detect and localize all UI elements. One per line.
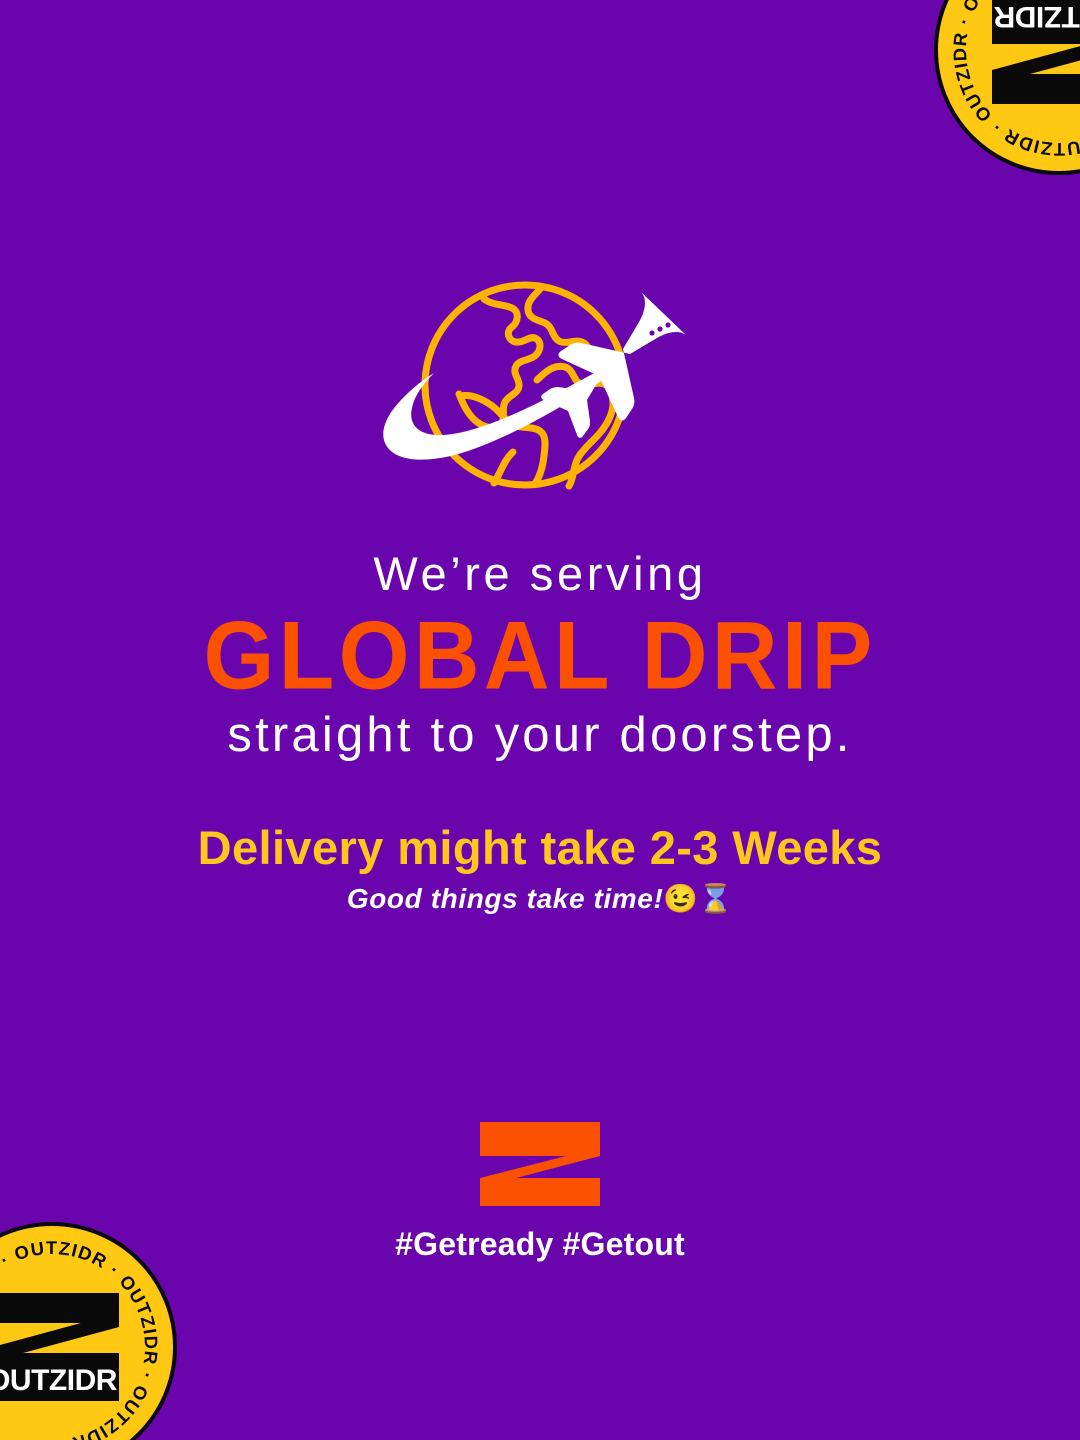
subhead-text: straight to your doorstep. — [0, 709, 1080, 763]
subnote-emoji: 😉⌛ — [663, 883, 733, 914]
outzidr-badge-top-right: OUTZIDR · OUTZIDR · OUTZIDR · OUTZIDR · … — [934, 0, 1080, 175]
eyebrow-text: We’re serving — [0, 548, 1080, 601]
hashtags-text: #Getready #Getout — [0, 1226, 1080, 1263]
headline-block: We’re serving GLOBAL DRIP straight to yo… — [0, 548, 1080, 763]
badge-core-logo: OUTZIDR — [0, 1291, 121, 1403]
badge-core-logo: OUTZIDR — [990, 0, 1080, 106]
promo-poster: We’re serving GLOBAL DRIP straight to yo… — [0, 0, 1080, 1440]
subnote-text: Good things take time! — [347, 883, 664, 914]
badge-core-label-tr: OUTZIDR — [993, 0, 1080, 33]
outzidr-z-logo — [478, 1120, 602, 1208]
footer-brand: #Getready #Getout — [0, 1120, 1080, 1263]
delivery-notice: Delivery might take 2-3 Weeks — [0, 820, 1080, 875]
delivery-subnote: Good things take time!😉⌛ — [0, 882, 1080, 915]
headline-text: GLOBAL DRIP — [0, 605, 1080, 706]
badge-core-label-bl: OUTZIDR — [0, 1364, 118, 1397]
globe-airplane-icon — [366, 278, 714, 510]
